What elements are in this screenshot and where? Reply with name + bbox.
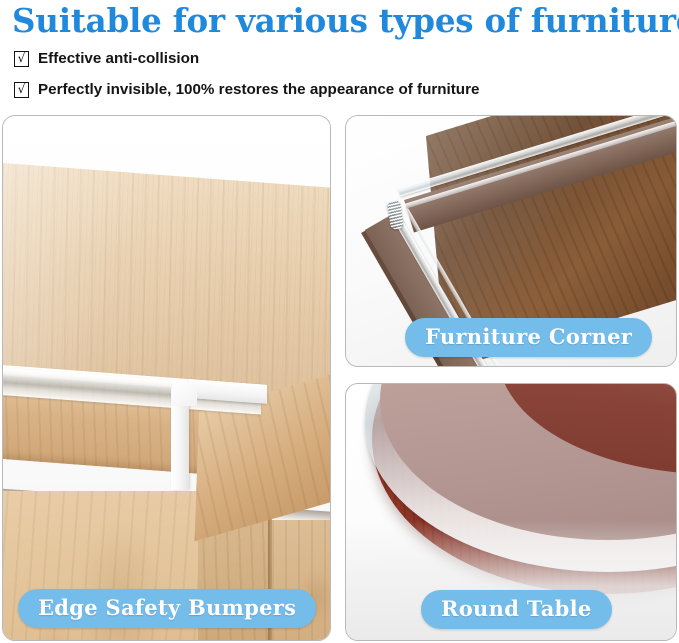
feature-label: Perfectly invisible, 100% restores the a… — [38, 81, 479, 98]
feature-item: √ Perfectly invisible, 100% restores the… — [14, 81, 479, 98]
product-photo-edge-bumpers — [3, 116, 330, 640]
page-title: Suitable for various types of furniture — [12, 0, 679, 42]
bumper-corner-cap-bend — [171, 382, 197, 406]
checkbox-check-icon: √ — [14, 82, 29, 98]
panel-round-table: Round Table — [345, 383, 677, 641]
feature-label: Effective anti-collision — [38, 50, 199, 67]
feature-item: √ Effective anti-collision — [14, 50, 199, 67]
header: Suitable for various types of furniture … — [0, 0, 679, 112]
panel-furniture-corner: Furniture Corner — [345, 115, 677, 367]
panel-caption-furniture-corner: Furniture Corner — [405, 318, 652, 357]
checkbox-check-icon: √ — [14, 51, 29, 67]
panel-caption-round-table: Round Table — [421, 590, 612, 629]
panel-edge-safety-bumpers: Edge Safety Bumpers — [2, 115, 331, 641]
product-infographic: Suitable for various types of furniture … — [0, 0, 679, 643]
panel-caption-edge-safety-bumpers: Edge Safety Bumpers — [18, 589, 316, 628]
